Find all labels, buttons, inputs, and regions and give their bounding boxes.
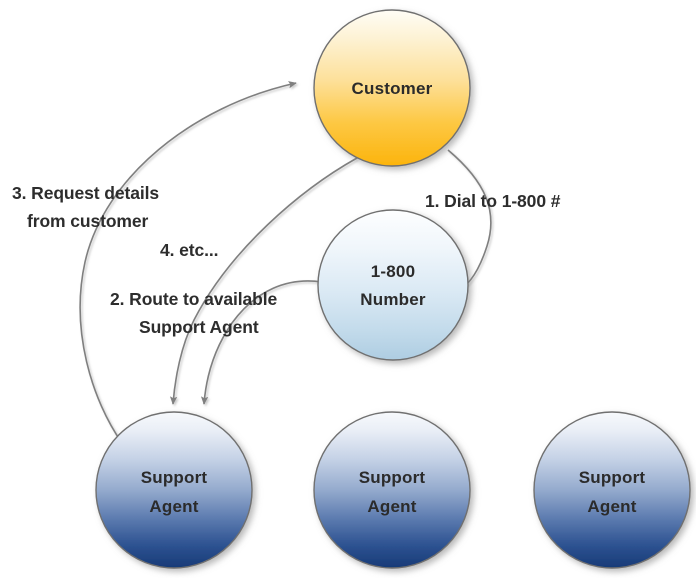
support-agent-2-circle[interactable] <box>314 412 470 568</box>
support-agent-2-label-line1: Support <box>359 468 426 487</box>
support-agent-1-label-line2: Agent <box>149 497 198 516</box>
edge-label-1-line1: 1. Dial to 1-800 # <box>425 191 561 211</box>
support-agent-3-circle[interactable] <box>534 412 690 568</box>
edge-request-details[interactable] <box>80 83 296 443</box>
edge-label-4-etc: 4. etc... <box>160 240 218 260</box>
edge-label-4-line1: 4. etc... <box>160 240 218 260</box>
tollfree-circle[interactable] <box>318 210 468 360</box>
tollfree-label-line1: 1-800 <box>371 262 415 281</box>
node-support-agent-1[interactable]: Support Agent <box>96 412 252 568</box>
node-customer[interactable]: Customer <box>314 10 470 166</box>
node-tollfree-number[interactable]: 1-800 Number <box>318 210 468 360</box>
edge-label-3-line2: from customer <box>27 211 149 231</box>
support-agent-1-label-line1: Support <box>141 468 208 487</box>
edge-label-2-line2: Support Agent <box>139 317 259 337</box>
support-agent-3-label-line1: Support <box>579 468 646 487</box>
edge-label-3-line1: 3. Request details <box>12 183 159 203</box>
diagram-svg: Customer 1-800 Number Support Agent Supp… <box>0 0 696 578</box>
edge-label-3-request: 3. Request details from customer <box>12 183 159 231</box>
customer-label: Customer <box>352 79 433 98</box>
edge-labels-layer: 1. Dial to 1-800 # 3. Request details fr… <box>12 183 561 337</box>
node-support-agent-2[interactable]: Support Agent <box>314 412 470 568</box>
edge-label-1-dial: 1. Dial to 1-800 # <box>425 191 561 211</box>
support-agent-3-label-line2: Agent <box>587 497 636 516</box>
support-agent-2-label-line2: Agent <box>367 497 416 516</box>
edge-label-2-route: 2. Route to available Support Agent <box>110 289 277 337</box>
node-support-agent-3[interactable]: Support Agent <box>534 412 690 568</box>
diagram-canvas: Customer 1-800 Number Support Agent Supp… <box>0 0 696 578</box>
support-agent-1-circle[interactable] <box>96 412 252 568</box>
edge-label-2-line1: 2. Route to available <box>110 289 277 309</box>
tollfree-label-line2: Number <box>360 290 426 309</box>
